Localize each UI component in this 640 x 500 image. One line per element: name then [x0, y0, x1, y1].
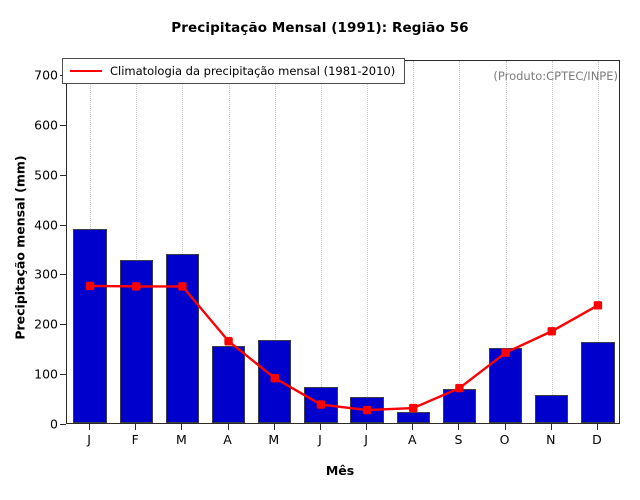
y-tick-label-200: 200 [0, 317, 58, 332]
legend-line-swatch [70, 70, 102, 72]
chart-figure: Precipitação Mensal (1991): Região 56 Pr… [0, 0, 640, 500]
x-tick-mark-s-8 [458, 424, 459, 430]
x-axis-label: Mês [60, 463, 620, 478]
climatology-marker-d-11 [594, 301, 602, 309]
x-tick-label-f-1: F [132, 432, 139, 447]
climatology-marker-m-4 [271, 374, 279, 382]
x-tick-mark-o-9 [505, 424, 506, 430]
climatology-marker-m-2 [178, 282, 186, 290]
climatology-marker-a-7 [409, 404, 417, 412]
climatology-marker-j-5 [317, 400, 325, 408]
x-tick-label-n-10: N [546, 432, 555, 447]
x-tick-label-j-5: J [318, 432, 322, 447]
x-tick-label-m-4: M [268, 432, 279, 447]
y-tick-label-0: 0 [0, 417, 58, 432]
y-tick-label-500: 500 [0, 167, 58, 182]
plot-area [66, 60, 620, 424]
x-tick-mark-m-2 [181, 424, 182, 430]
climatology-marker-j-6 [363, 406, 371, 414]
climatology-line-overlay [67, 61, 621, 425]
x-tick-mark-a-7 [412, 424, 413, 430]
x-tick-mark-j-0 [89, 424, 90, 430]
climatology-marker-f-1 [132, 282, 140, 290]
x-tick-mark-n-10 [551, 424, 552, 430]
legend-label-climatology: Climatologia da precipitação mensal (198… [110, 64, 395, 78]
y-tick-label-100: 100 [0, 367, 58, 382]
y-tick-label-400: 400 [0, 217, 58, 232]
climatology-line [90, 286, 598, 410]
x-tick-label-j-6: J [364, 432, 368, 447]
x-tick-mark-m-4 [274, 424, 275, 430]
climatology-marker-o-9 [501, 349, 509, 357]
climatology-marker-j-0 [86, 282, 94, 290]
x-tick-label-d-11: D [592, 432, 602, 447]
climatology-marker-a-3 [224, 337, 232, 345]
x-tick-label-o-9: O [500, 432, 510, 447]
x-tick-mark-d-11 [597, 424, 598, 430]
x-tick-mark-j-6 [366, 424, 367, 430]
x-tick-mark-j-5 [320, 424, 321, 430]
x-tick-label-j-0: J [87, 432, 91, 447]
source-annotation: (Produto:CPTEC/INPE) [493, 69, 618, 83]
climatology-markers [86, 282, 602, 415]
x-tick-label-a-7: A [408, 432, 417, 447]
climatology-marker-n-10 [548, 327, 556, 335]
y-tick-label-300: 300 [0, 267, 58, 282]
x-tick-mark-a-3 [228, 424, 229, 430]
x-tick-mark-f-1 [135, 424, 136, 430]
x-tick-label-m-2: M [176, 432, 187, 447]
y-tick-label-600: 600 [0, 117, 58, 132]
x-tick-label-a-3: A [223, 432, 232, 447]
y-tick-label-700: 700 [0, 68, 58, 83]
climatology-marker-s-8 [455, 384, 463, 392]
chart-legend[interactable]: Climatologia da precipitação mensal (198… [62, 58, 405, 84]
x-tick-label-s-8: S [454, 432, 462, 447]
y-tick-mark-0 [60, 424, 66, 425]
